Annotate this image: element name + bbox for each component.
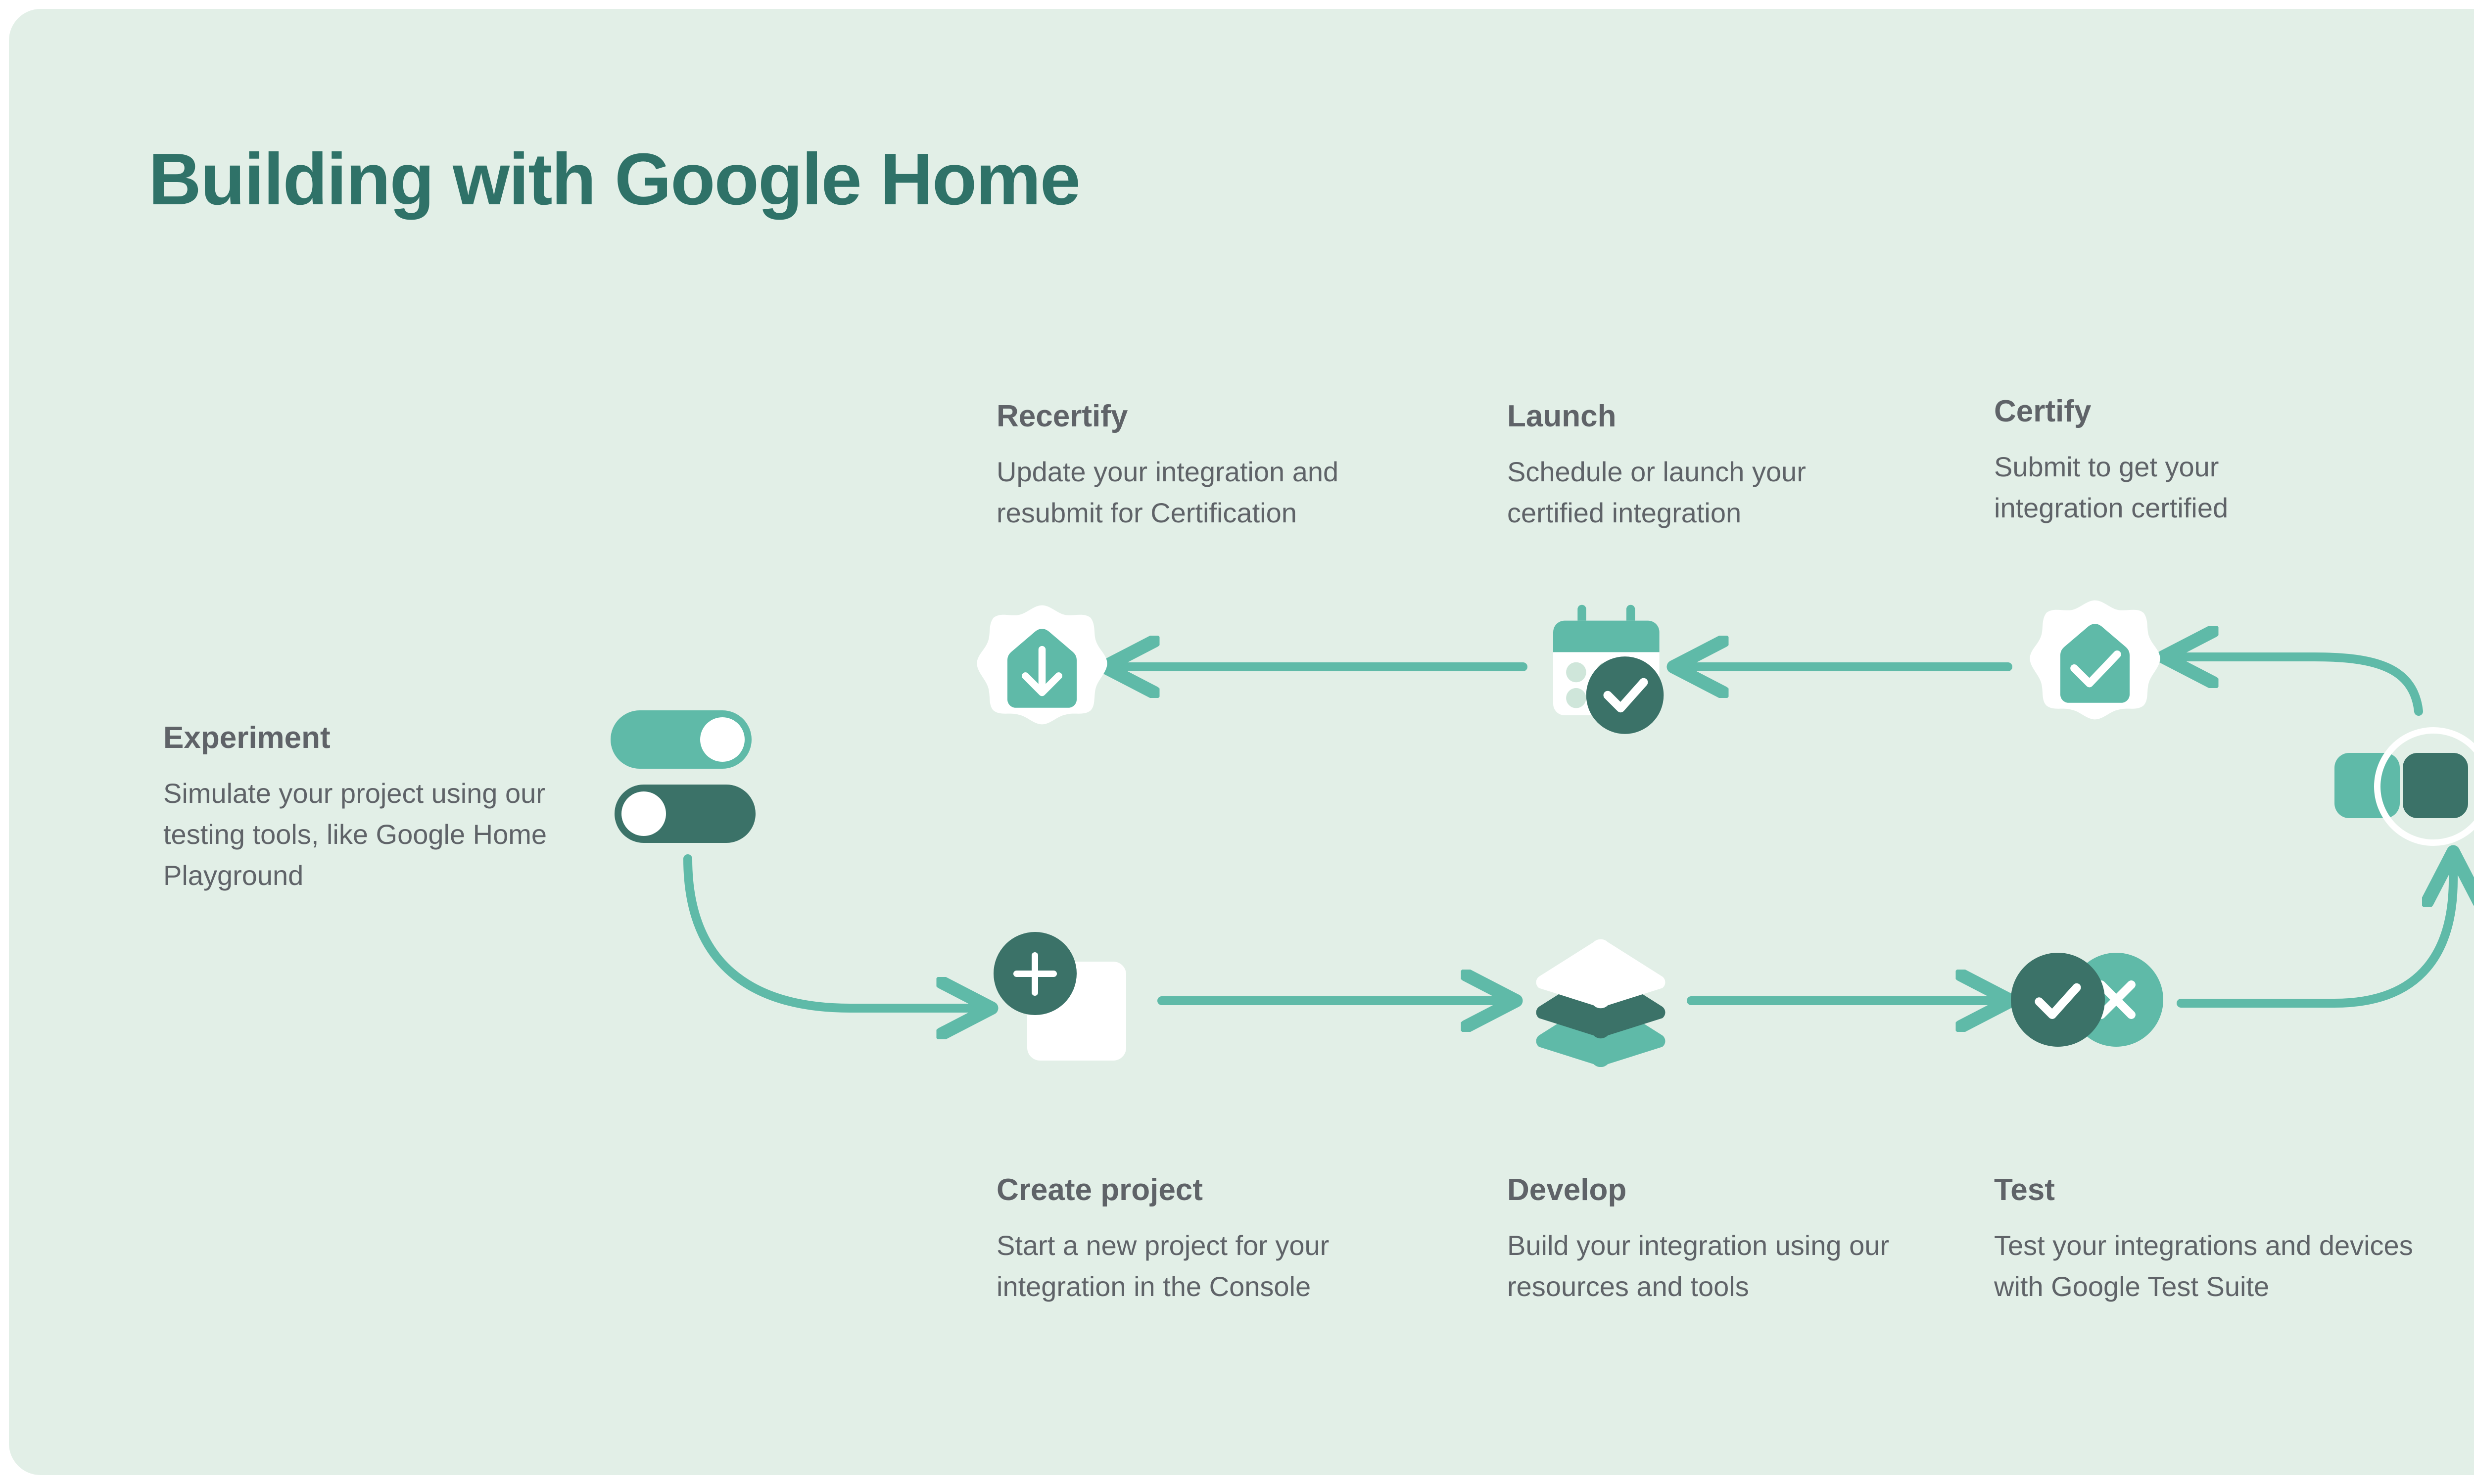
step-experiment: Experiment Simulate your project using o… (163, 720, 609, 896)
layers-icon (1529, 935, 1672, 1068)
step-create-project: Create project Start a new project for y… (997, 1172, 1432, 1307)
badge-check-icon (2026, 598, 2164, 736)
step-description: Schedule or launch your certified integr… (1507, 452, 1903, 534)
step-title: Test (1994, 1172, 2439, 1207)
step-description: Simulate your project using our testing … (163, 773, 609, 896)
arrow-fieldtrial-to-certify (2181, 657, 2419, 711)
page-title: Building with Google Home (148, 138, 1080, 222)
toggle-off-icon (615, 785, 756, 843)
toggles-icon (611, 710, 754, 844)
arrow-test-to-fieldtrial (2181, 870, 2453, 1003)
devices-ring-icon (2334, 721, 2474, 865)
step-develop: Develop Build your integration using our… (1507, 1172, 1923, 1307)
step-title: Recertify (997, 399, 1432, 434)
step-launch: Launch Schedule or launch your certified… (1507, 399, 1903, 534)
step-title: Experiment (163, 720, 609, 755)
toggle-knob (700, 717, 745, 762)
step-title: Develop (1507, 1172, 1923, 1207)
step-test: Test Test your integrations and devices … (1994, 1172, 2439, 1307)
plus-card-icon (994, 932, 1137, 1075)
check-cross-icon (2011, 953, 2169, 1052)
plus-bar-vertical (1032, 952, 1038, 996)
diagram-canvas: Building with Google Home (9, 9, 2474, 1475)
plus-circle-icon (994, 932, 1077, 1015)
step-description: Build your integration using our resourc… (1507, 1225, 1923, 1307)
step-title: Certify (1994, 394, 2350, 429)
step-title: Launch (1507, 399, 1903, 434)
step-description: Update your integration and resubmit for… (997, 452, 1432, 534)
device-square-dark (2403, 753, 2468, 818)
screenshot-root: Building with Google Home (0, 0, 2474, 1484)
calendar-check-icon (1539, 601, 1682, 744)
step-description: Test your integrations and devices with … (1994, 1225, 2439, 1307)
arrow-experiment-to-create (688, 859, 974, 1008)
check-circle-icon (2011, 953, 2105, 1047)
toggle-on-icon (611, 710, 752, 769)
step-description: Submit to get your integration certified (1994, 447, 2350, 529)
step-description: Start a new project for your integration… (997, 1225, 1432, 1307)
step-certify: Certify Submit to get your integration c… (1994, 394, 2350, 529)
step-recertify: Recertify Update your integration and re… (997, 399, 1432, 534)
toggle-knob (621, 791, 666, 836)
badge-download-icon (973, 603, 1111, 741)
step-title: Create project (997, 1172, 1432, 1207)
